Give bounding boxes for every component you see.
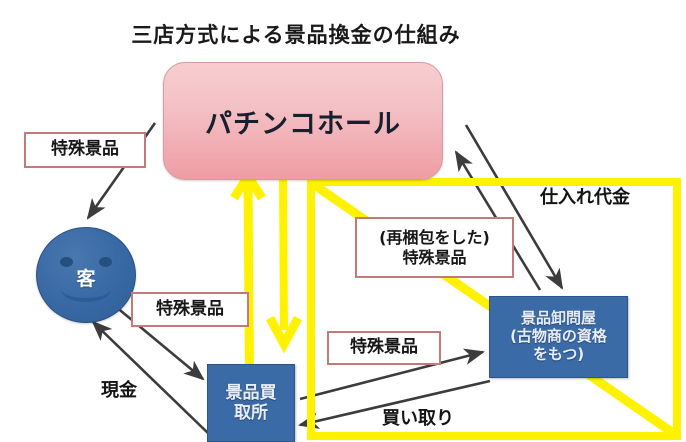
node-customer-label: 客 bbox=[37, 264, 135, 291]
node-pachinko-hall-label: パチンコホール bbox=[205, 102, 401, 141]
node-wholesaler[interactable]: 景品卸問屋 (古物商の資格 をもつ) bbox=[489, 296, 628, 378]
caption-special-prize-customer-to-shop-text: 特殊景品 bbox=[156, 299, 224, 320]
caption-repacked-special-prize: (再梱包をした) 特殊景品 bbox=[355, 217, 514, 278]
caption-repacked-special-prize-line1: (再梱包をした) bbox=[379, 228, 490, 248]
node-customer[interactable]: 客 bbox=[36, 227, 136, 323]
caption-special-prize-shop-to-wholesaler-text: 特殊景品 bbox=[350, 337, 418, 358]
page-title: 三店方式による景品換金の仕組み bbox=[96, 19, 496, 49]
caption-repacked-special-prize-line2: 特殊景品 bbox=[379, 248, 490, 268]
node-exchange-shop-label-line1: 景品買 bbox=[226, 383, 277, 403]
node-wholesaler-label-line1: 景品卸問屋 bbox=[510, 310, 607, 328]
caption-special-prize-shop-to-wholesaler: 特殊景品 bbox=[327, 331, 441, 365]
caption-special-prize-customer-to-shop: 特殊景品 bbox=[131, 292, 249, 327]
node-exchange-shop[interactable]: 景品買 取所 bbox=[207, 364, 295, 442]
node-wholesaler-label-line3: をもつ) bbox=[510, 346, 607, 364]
caption-special-prize-hall-to-customer-text: 特殊景品 bbox=[51, 139, 119, 160]
node-exchange-shop-label-line2: 取所 bbox=[226, 403, 277, 423]
node-wholesaler-label-line2: (古物商の資格 bbox=[510, 328, 607, 346]
caption-special-prize-hall-to-customer: 特殊景品 bbox=[24, 132, 146, 168]
node-pachinko-hall[interactable]: パチンコホール bbox=[163, 62, 443, 180]
yellow-down-arrow-annotation bbox=[270, 178, 298, 344]
label-buyback: 買い取り bbox=[382, 404, 454, 430]
diagram-canvas: 三店方式による景品換金の仕組み パチンコホール 客 景品買 取所 景品卸問屋 (… bbox=[0, 0, 686, 442]
label-cash: 現金 bbox=[101, 376, 137, 402]
label-purchase-payment: 仕入れ代金 bbox=[540, 183, 630, 209]
